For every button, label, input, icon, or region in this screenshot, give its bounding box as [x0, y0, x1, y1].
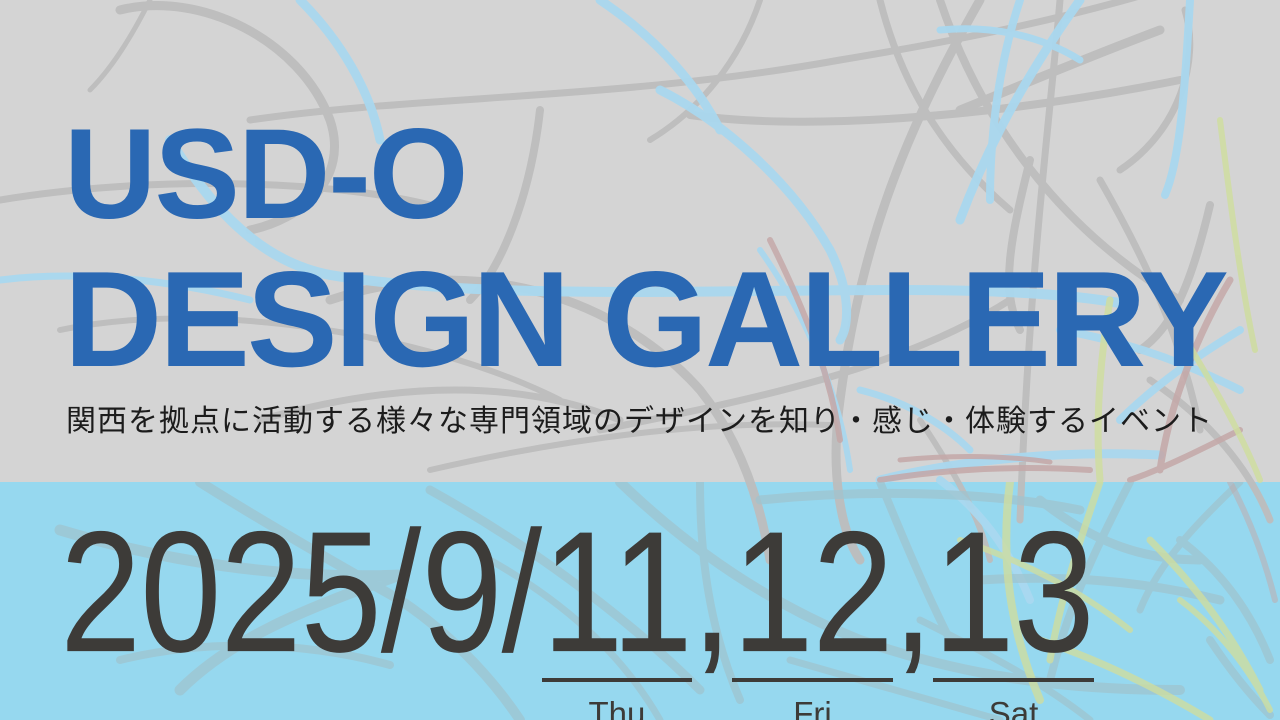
date-day-fri: 12 Fri: [732, 506, 892, 652]
date-separator-2: /: [502, 506, 543, 678]
subtitle-text: 関西を拠点に活動する様々な専門領域のデザインを知り・感じ・体験するイベント: [66, 404, 1213, 440]
date-year: 2025: [60, 506, 381, 678]
title-line-1: USD-O: [64, 112, 1264, 237]
title-line-2: DESIGN GALLERY: [64, 253, 1264, 386]
date-day-thu: 11 Thu: [542, 506, 692, 652]
date-day-weekday: Thu: [589, 697, 646, 720]
date-day-weekday: Sat: [989, 697, 1039, 720]
event-date-row: 2025 / 9 / 11 Thu , 12 Fri , 13 Sat: [60, 506, 1094, 652]
date-day-underline: [933, 678, 1093, 682]
event-poster: USD-O DESIGN GALLERY 関西を拠点に活動する様々な専門領域のデ…: [0, 0, 1280, 720]
date-comma-1: ,: [692, 506, 733, 678]
date-day-underline: [732, 678, 892, 682]
date-day-number: 11: [542, 506, 692, 678]
date-day-number: 13: [933, 506, 1093, 678]
date-day-sat: 13 Sat: [933, 506, 1093, 652]
date-day-weekday: Fri: [793, 697, 831, 720]
date-day-number: 12: [732, 506, 892, 678]
title-block: USD-O DESIGN GALLERY: [64, 112, 1264, 387]
date-day-underline: [542, 678, 692, 682]
date-comma-2: ,: [893, 506, 934, 678]
date-separator-1: /: [381, 506, 422, 678]
date-month: 9: [421, 506, 501, 678]
